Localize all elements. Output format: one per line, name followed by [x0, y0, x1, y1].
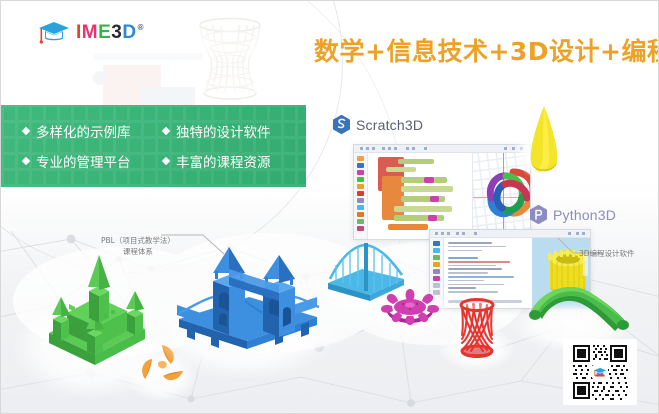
- block-value[interactable]: [430, 196, 439, 202]
- callout-pbl-line2: 课程体系: [123, 247, 153, 256]
- block-operator[interactable]: [398, 159, 434, 164]
- qr-pattern: [566, 342, 634, 402]
- qr-center-logo: [592, 365, 608, 379]
- logo-wordmark: IME3D®: [76, 23, 144, 42]
- diamond-bullet-icon: [162, 157, 170, 165]
- features-row: 专业的管理平台 丰富的课程资源: [23, 151, 306, 171]
- features-panel-texture: [1, 105, 306, 187]
- model-curved-slide: [529, 283, 629, 338]
- registered-trademark-icon: ®: [138, 23, 144, 32]
- badge-scratch3d: Scratch3D: [332, 114, 423, 135]
- diamond-bullet-icon: [22, 127, 30, 135]
- code-blocks-area[interactable]: [368, 153, 472, 239]
- scratch3d-app-window[interactable]: [353, 144, 531, 240]
- model-hourglass-vase: [187, 17, 273, 101]
- logo-letter: E: [98, 22, 111, 43]
- graduation-cap-icon: [37, 19, 71, 45]
- panel-body: [354, 153, 530, 239]
- feature-label: 专业的管理平台: [36, 151, 131, 171]
- badge-label: Python3D: [553, 207, 616, 223]
- panel-toolbar[interactable]: [354, 145, 530, 153]
- model-torus-knot: [482, 164, 530, 226]
- model-tower-bridge: [171, 241, 323, 356]
- badge-label: Scratch3D: [356, 117, 423, 133]
- model-teardrop: [526, 104, 562, 183]
- features-row: 多样化的示例库 独特的设计软件: [23, 121, 306, 141]
- python3d-hex-icon: [529, 204, 548, 225]
- block-palette-sidebar[interactable]: [354, 153, 368, 239]
- feature-label: 丰富的课程资源: [176, 151, 271, 171]
- feature-item-management-platform: 专业的管理平台: [23, 151, 163, 171]
- features-panel: 多样化的示例库 独特的设计软件 专业的管理平台 丰富的课程资源: [1, 105, 306, 187]
- poster-canvas: IME3D®: [0, 0, 659, 414]
- block-motion[interactable]: [401, 186, 453, 192]
- qr-code[interactable]: [563, 339, 637, 405]
- feature-item-unique-software: 独特的设计软件: [163, 121, 271, 141]
- diamond-bullet-icon: [22, 157, 30, 165]
- scratch3d-hex-icon: [332, 114, 351, 135]
- callout-3d-software: 3D编程设计软件: [579, 249, 635, 260]
- block-control[interactable]: [388, 224, 428, 230]
- block-operator[interactable]: [386, 167, 416, 172]
- logo-letter: D: [122, 22, 136, 43]
- model-mesh-cup: [453, 295, 501, 368]
- feature-item-diverse-library: 多样化的示例库: [23, 121, 163, 141]
- model-gear-flower: [379, 283, 441, 332]
- block-looks[interactable]: [394, 206, 452, 212]
- logo-letter: 3: [111, 22, 122, 43]
- page-title: 数学+信息技术+3D设计+编程: [314, 32, 659, 68]
- feature-label: 多样化的示例库: [36, 121, 131, 141]
- feature-item-course-resources: 丰富的课程资源: [163, 151, 271, 171]
- block-value[interactable]: [424, 177, 434, 183]
- badge-python3d: Python3D: [529, 204, 616, 225]
- block-value[interactable]: [428, 215, 437, 221]
- feature-label: 独特的设计软件: [176, 121, 271, 141]
- callout-pbl: PBL（项目式教学法） 课程体系: [101, 236, 175, 258]
- callout-pbl-line1: PBL（项目式教学法）: [101, 236, 175, 245]
- brand-logo: IME3D®: [37, 19, 144, 45]
- logo-letter: M: [82, 22, 98, 43]
- diamond-bullet-icon: [162, 127, 170, 135]
